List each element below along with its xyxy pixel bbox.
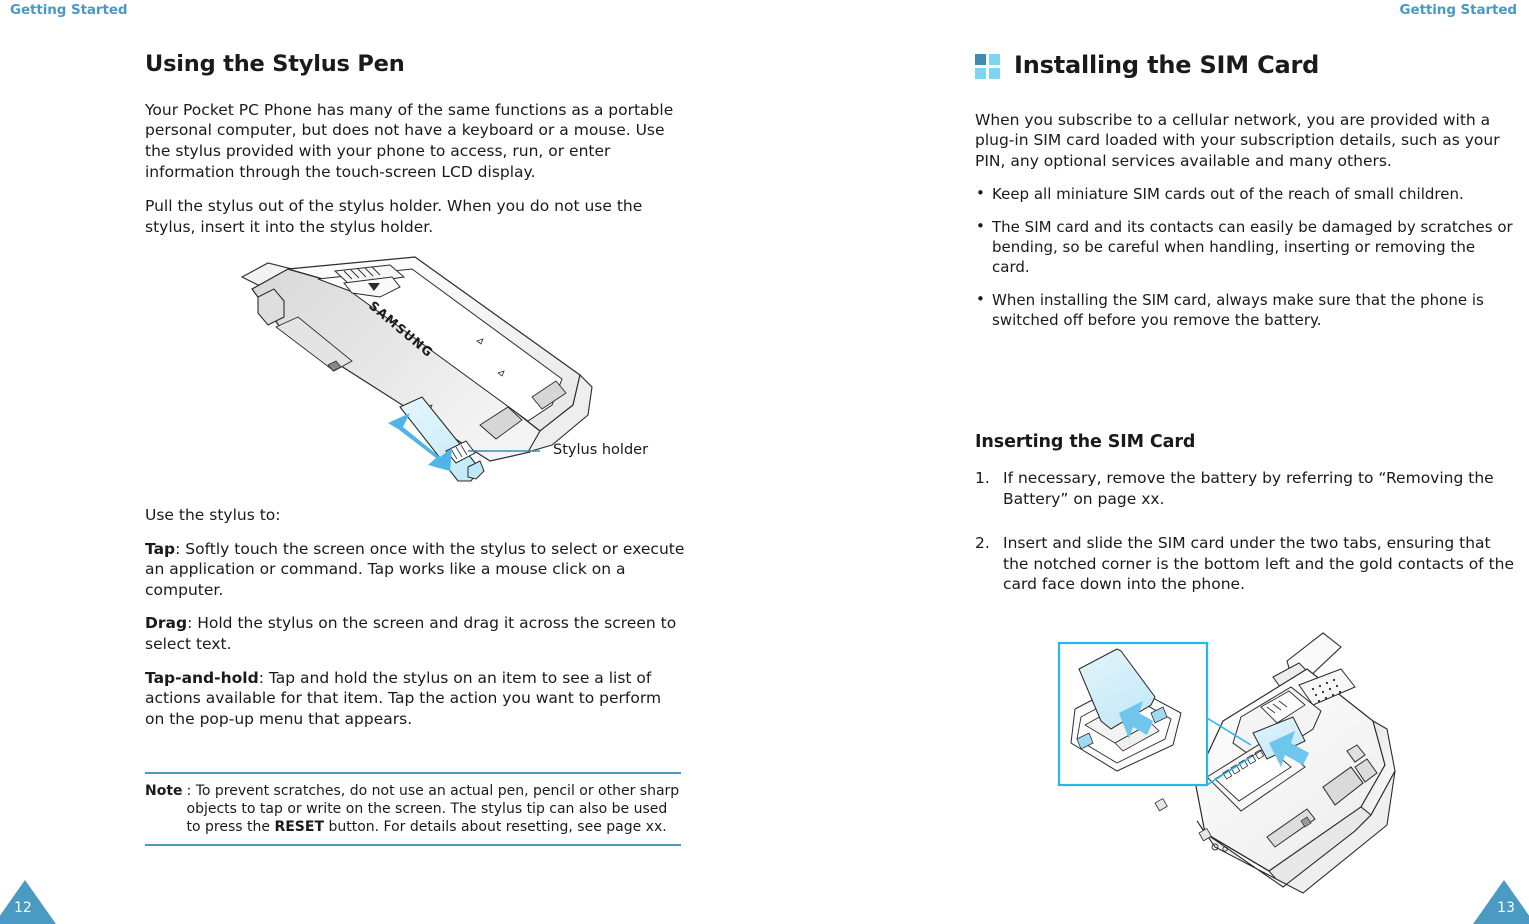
page-title-stylus: Using the Stylus Pen [145, 52, 685, 78]
step-number: 2. [975, 533, 990, 554]
phone-stylus-drawing: SAMSUNG [240, 255, 690, 500]
page-left: Getting Started Using the Stylus Pen You… [0, 0, 764, 924]
note-box: Note : To prevent scratches, do not use … [145, 772, 681, 846]
definition-tap-and-hold: Tap-and-hold: Tap and hold the stylus on… [145, 668, 685, 730]
list-item: Keep all miniature SIM cards out of the … [975, 185, 1515, 205]
note-text-after: button. For details about resetting, see… [324, 819, 667, 835]
note-rule-bottom [145, 844, 681, 846]
note-text: : To prevent scratches, do not use an ac… [183, 782, 681, 837]
inserting-sim-block: Inserting the SIM Card 1. If necessary, … [975, 432, 1515, 619]
note-label: Note [145, 782, 183, 837]
step-number: 1. [975, 468, 990, 489]
running-head-left: Getting Started [10, 2, 127, 18]
paragraph-sim-intro: When you subscribe to a cellular network… [975, 110, 1515, 172]
four-squares-icon [975, 54, 1000, 79]
note-emphasis-reset: RESET [274, 819, 324, 835]
right-text-column: Installing the SIM Card When you subscri… [975, 52, 1515, 344]
list-item: 1. If necessary, remove the battery by r… [975, 468, 1515, 509]
definition-drag: Drag: Hold the stylus on the screen and … [145, 613, 685, 654]
definition-text-tap: : Softly touch the screen once with the … [145, 540, 684, 599]
paragraph-stylus-pull: Pull the stylus out of the stylus holder… [145, 196, 685, 237]
figure-caption-stylus-holder: Stylus holder [553, 442, 648, 458]
page-right: Getting Started Installing the SIM Card … [765, 0, 1529, 924]
list-item: The SIM card and its contacts can easily… [975, 218, 1515, 278]
page-number-left: 12 [14, 900, 32, 916]
left-text-column: Using the Stylus Pen Your Pocket PC Phon… [145, 52, 685, 252]
definition-tap: Tap: Softly touch the screen once with t… [145, 539, 685, 601]
page-title-sim: Installing the SIM Card [975, 52, 1515, 80]
stylus-usage-intro: Use the stylus to: [145, 505, 685, 526]
definition-term-tap: Tap [145, 540, 175, 558]
sim-card-drawing [1055, 625, 1485, 915]
step-text: If necessary, remove the battery by refe… [1003, 469, 1494, 508]
definition-term-drag: Drag [145, 614, 187, 632]
definition-term-tap-and-hold: Tap-and-hold [145, 669, 259, 687]
sim-warning-list: Keep all miniature SIM cards out of the … [975, 185, 1515, 331]
sub-title-inserting-sim: Inserting the SIM Card [975, 432, 1515, 452]
figure-sim-insertion [1055, 625, 1485, 915]
running-head-right: Getting Started [1400, 2, 1517, 18]
page-title-sim-label: Installing the SIM Card [1014, 52, 1319, 80]
step-text: Insert and slide the SIM card under the … [1003, 534, 1514, 593]
page-number-right: 13 [1497, 900, 1515, 916]
folio-right: 13 [1467, 880, 1529, 924]
inserting-sim-steps: 1. If necessary, remove the battery by r… [975, 468, 1515, 595]
definition-text-drag: : Hold the stylus on the screen and drag… [145, 614, 676, 653]
folio-left: 12 [0, 880, 62, 924]
stylus-usage-block: Use the stylus to: Tap: Softly touch the… [145, 505, 685, 742]
paragraph-stylus-intro: Your Pocket PC Phone has many of the sam… [145, 100, 685, 182]
list-item: When installing the SIM card, always mak… [975, 291, 1515, 331]
figure-stylus-holder: SAMSUNG Stylus holder [240, 255, 690, 500]
list-item: 2. Insert and slide the SIM card under t… [975, 533, 1515, 595]
